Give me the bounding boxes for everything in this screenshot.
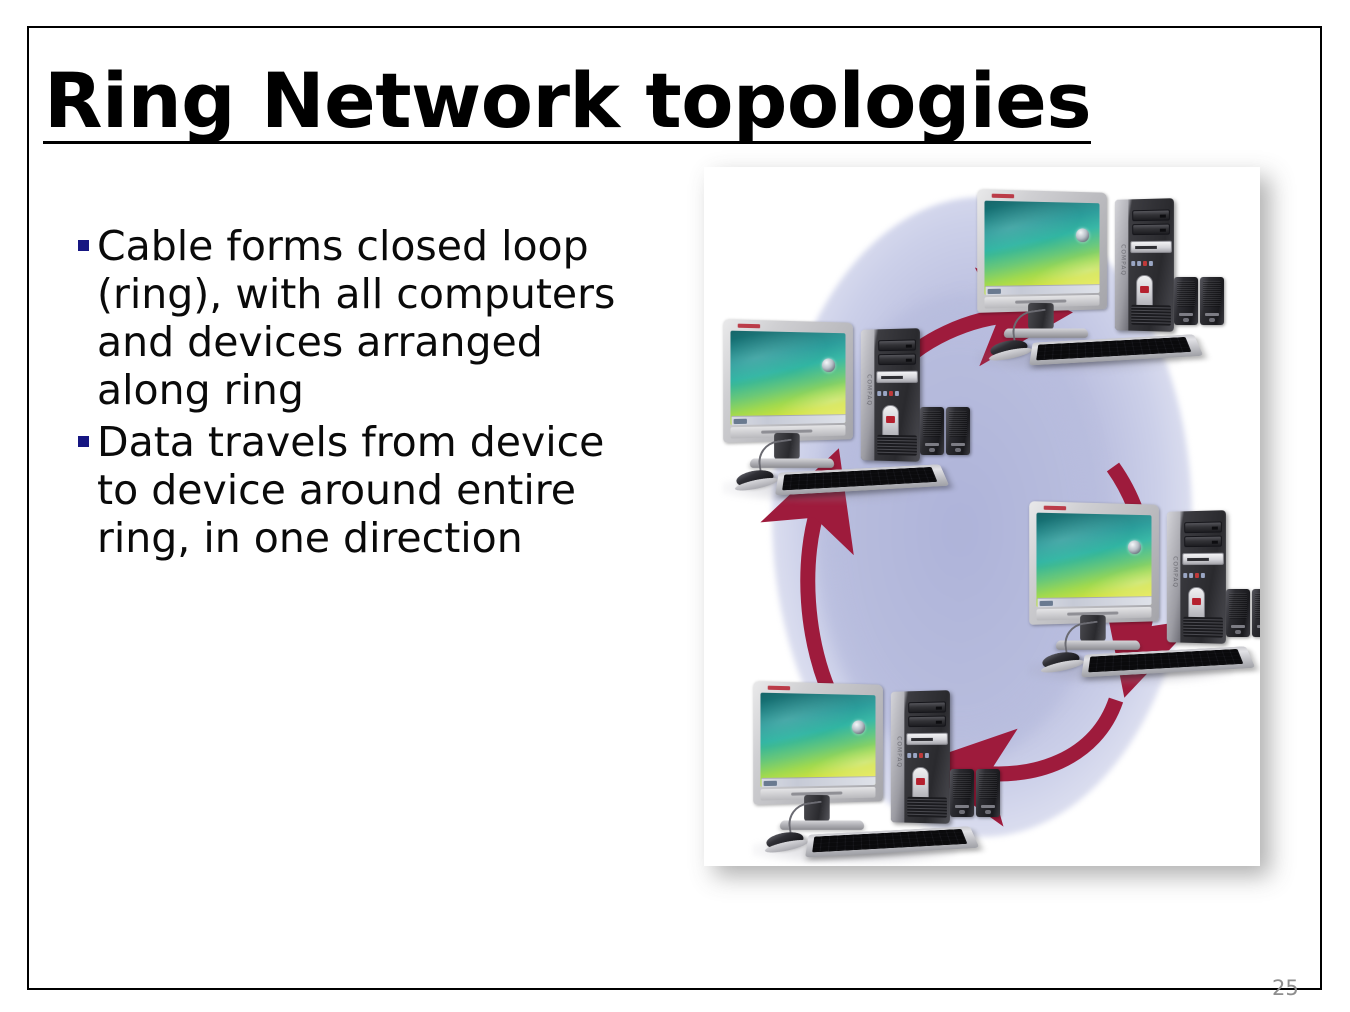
computer-tower: COMPAQ (1167, 510, 1226, 644)
monitor (723, 319, 853, 443)
tower-side-panel: COMPAQ (891, 691, 905, 822)
taskbar-button-icon (988, 289, 1001, 294)
optical-drive-bay (1184, 536, 1222, 548)
monitor (1029, 501, 1159, 625)
tower-side-panel: COMPAQ (1167, 511, 1181, 642)
tower-brand-label: COMPAQ (1117, 233, 1127, 287)
bullet-text: Data travels from device to device aroun… (97, 418, 658, 562)
monitor-screen (984, 201, 1099, 296)
tower-indicator-leds (907, 751, 947, 759)
workstation-top: COMPAQ (970, 185, 1202, 375)
title-underline (43, 141, 1091, 144)
bullet-square-icon (78, 436, 89, 447)
tower-vents (907, 797, 947, 818)
speaker (1226, 589, 1250, 637)
desktop-orb-icon (852, 720, 865, 734)
speaker (976, 769, 1000, 817)
workstation-bottom-left: COMPAQ (746, 677, 978, 866)
front-io-panel (1182, 553, 1224, 565)
tower-vents (1183, 617, 1223, 638)
desktop-orb-icon (1076, 228, 1089, 242)
desktop-orb-icon (822, 358, 835, 372)
monitor (753, 681, 883, 805)
computer-tower: COMPAQ (891, 690, 950, 824)
optical-drive-bay (1132, 224, 1170, 236)
front-io-panel (906, 733, 948, 745)
speaker (946, 407, 970, 455)
tower-indicator-leds (1183, 571, 1223, 579)
optical-drive-bay (1184, 521, 1222, 533)
bullet-square-icon (78, 240, 89, 251)
page-title: Ring Network topologies (44, 58, 1104, 144)
tower-indicator-leds (877, 389, 917, 397)
tower-side-panel: COMPAQ (1115, 199, 1129, 330)
monitor-brand-logo (992, 194, 1014, 199)
taskbar-button-icon (764, 781, 777, 786)
tower-indicator-leds (1131, 259, 1171, 267)
speaker (950, 769, 974, 817)
tower-brand-label: COMPAQ (863, 363, 873, 417)
monitor-screen (1036, 513, 1151, 608)
speaker (1174, 277, 1198, 325)
speaker (920, 407, 944, 455)
monitor-screen (760, 693, 875, 788)
optical-drive-bay (908, 701, 946, 713)
tower-brand-label: COMPAQ (893, 725, 903, 779)
desktop-orb-icon (1128, 540, 1141, 554)
ring-topology-image: COMPAQ (704, 167, 1260, 866)
list-item: Data travels from device to device aroun… (78, 418, 658, 562)
monitor (977, 189, 1107, 313)
monitor-brand-logo (1044, 506, 1066, 511)
taskbar-button-icon (1040, 601, 1053, 606)
workstation-right: COMPAQ (1022, 497, 1254, 687)
workstation-left: COMPAQ (716, 315, 948, 505)
speaker (1252, 589, 1260, 637)
taskbar-button-icon (734, 419, 747, 424)
tower-vents (1131, 305, 1171, 326)
monitor-brand-logo (768, 686, 790, 691)
bullet-text: Cable forms closed loop (ring), with all… (97, 222, 658, 414)
arrow-right-to-bottom-left (972, 700, 1116, 774)
list-item: Cable forms closed loop (ring), with all… (78, 222, 658, 414)
optical-drive-bay (1132, 209, 1170, 221)
front-io-panel (876, 371, 918, 383)
tower-brand-label: COMPAQ (1169, 545, 1179, 599)
monitor-brand-logo (738, 324, 760, 329)
computer-tower: COMPAQ (1115, 198, 1174, 332)
speaker (1200, 277, 1224, 325)
monitor-screen (730, 331, 845, 426)
slide-canvas: Ring Network topologies Cable forms clos… (0, 0, 1350, 1012)
optical-drive-bay (878, 354, 916, 366)
computer-tower: COMPAQ (861, 328, 920, 462)
tower-vents (877, 435, 917, 456)
optical-drive-bay (908, 716, 946, 728)
page-number: 25 (1272, 976, 1299, 1000)
optical-drive-bay (878, 339, 916, 351)
bullet-list: Cable forms closed loop (ring), with all… (78, 222, 658, 566)
front-io-panel (1130, 241, 1172, 253)
tower-side-panel: COMPAQ (861, 329, 875, 460)
